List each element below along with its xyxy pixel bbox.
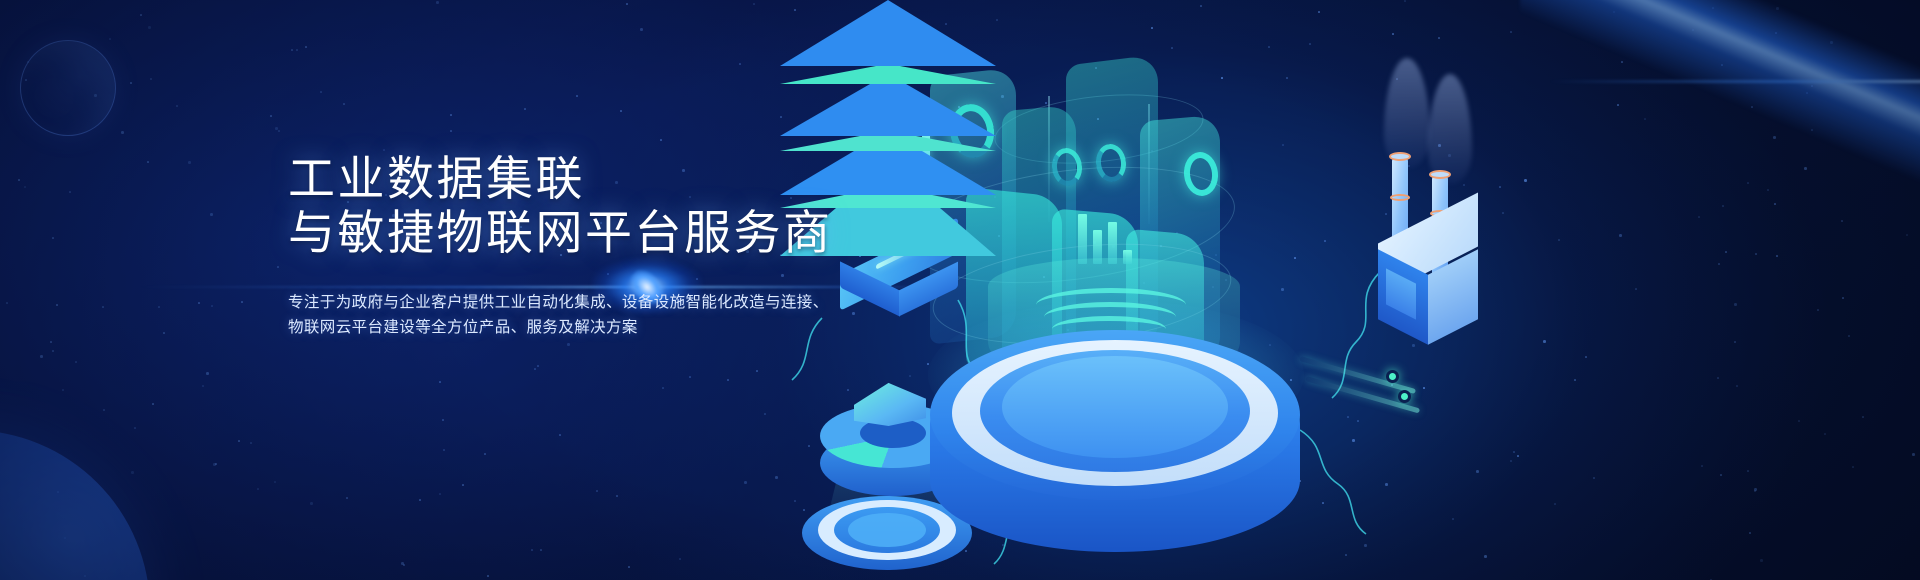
pyramid-layer-3 [780, 84, 996, 136]
planet-globe [0, 430, 150, 580]
pyramid-layer-4-edge [780, 66, 996, 84]
pyramid-layer-4 [780, 0, 996, 66]
isometric-illustration [780, 0, 1920, 580]
beam-node-3 [1386, 370, 1399, 383]
page-title-line2: 与敏捷物联网平台服务商 [288, 206, 833, 260]
hero-subtitle-line2: 物联网云平台建设等全方位产品、服务及解决方案 [288, 315, 833, 340]
beam-node-4 [1398, 390, 1411, 403]
hero-copy: 工业数据集联 与敏捷物联网平台服务商 专注于为政府与企业客户提供工业自动化集成、… [288, 152, 833, 340]
smokestack-cap-2 [1429, 170, 1451, 179]
hero-banner: 工业数据集联 与敏捷物联网平台服务商 专注于为政府与企业客户提供工业自动化集成、… [0, 0, 1920, 580]
hero-subtitle-line1: 专注于为政府与企业客户提供工业自动化集成、设备设施智能化改造与连接、 [288, 290, 833, 315]
pedestal-core [848, 513, 926, 547]
moon-icon [20, 40, 116, 136]
pyramid-layer-3-edge [780, 136, 996, 151]
page-title-line1: 工业数据集联 [288, 152, 833, 206]
smokestack-band-1 [1390, 194, 1410, 201]
smokestack-cap-1 [1389, 152, 1411, 161]
platform-core [1002, 356, 1228, 458]
